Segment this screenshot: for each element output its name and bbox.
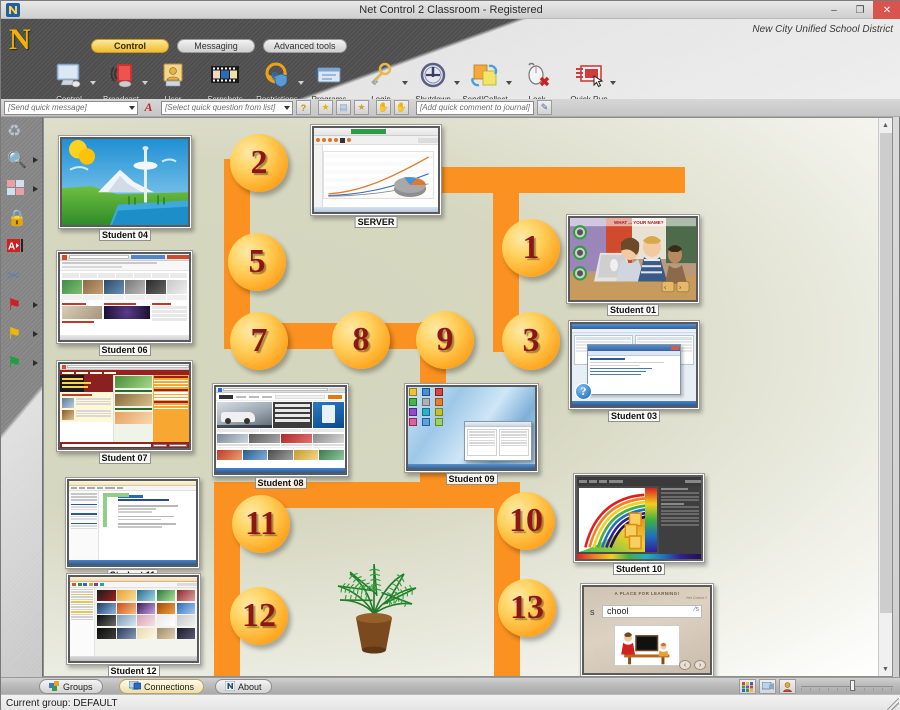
tool-control[interactable]: Control xyxy=(43,59,95,99)
status-bar: Current group: DEFAULT xyxy=(1,694,900,710)
screen-preview: WHAT ... YOUR NAME? xyxy=(566,214,700,304)
screen-preview: A PLACE FOR LEARNING! Net Control 2 s ch… xyxy=(580,583,714,676)
tab-advanced-tools[interactable]: Advanced tools xyxy=(263,39,347,53)
details-view-button[interactable] xyxy=(759,679,776,694)
zoom-track xyxy=(801,686,893,687)
star-icon: ★ xyxy=(357,102,365,113)
screen-preview xyxy=(56,360,193,452)
tool-restrictions[interactable]: e Restrictions xyxy=(251,59,303,99)
users-view-button[interactable] xyxy=(779,679,796,694)
journal-comment-input[interactable]: [Add quick comment to journal] xyxy=(416,101,534,115)
question-mark-icon: ? xyxy=(301,103,307,113)
quick-message-input[interactable]: [Send quick message] xyxy=(4,101,138,115)
sidebar-item-refresh[interactable]: ♻ xyxy=(1,117,43,146)
computer-student-03[interactable]: ? Student 03 xyxy=(568,320,700,410)
user-card-icon xyxy=(147,59,199,93)
sidebar-item-magnifier[interactable]: 🔍 xyxy=(1,146,43,175)
computer-student-11[interactable]: Student 11 xyxy=(65,477,200,569)
potted-plant-icon xyxy=(326,542,422,654)
tool-quick-run[interactable]: Quick Run xyxy=(563,59,615,99)
chevron-down-icon[interactable] xyxy=(129,106,135,110)
bottom-tab-label: Connections xyxy=(144,682,194,692)
sidebar-item-text-message[interactable]: A xyxy=(1,233,43,262)
sidebar-item-yellow-flag[interactable]: ⚑ xyxy=(1,320,43,349)
svg-text:A: A xyxy=(8,242,15,253)
font-icon: A xyxy=(144,100,152,115)
tab-messaging[interactable]: Messaging xyxy=(177,39,255,53)
quick-question-help-button[interactable]: ? xyxy=(296,100,311,115)
text-message-icon: A xyxy=(7,239,27,256)
seat-11[interactable]: 11 xyxy=(232,495,290,553)
bottom-tab-connections[interactable]: Connections xyxy=(119,679,204,694)
bottom-tab-label: Groups xyxy=(63,682,93,692)
ribbon-toolbar: N New City Unified School District Contr… xyxy=(1,19,900,99)
seat-1[interactable]: 1 xyxy=(502,219,560,277)
tiles-icon xyxy=(7,180,24,199)
seat-10[interactable]: 10 xyxy=(497,492,555,550)
bottom-tab-label: About xyxy=(238,682,262,692)
yellow-flag-icon: ⚑ xyxy=(7,327,21,343)
ice-desktop-icon xyxy=(408,387,535,469)
seat-7[interactable]: 7 xyxy=(230,312,288,370)
journal-add-button[interactable]: ✎ xyxy=(537,100,552,115)
chevron-down-icon[interactable] xyxy=(284,106,290,110)
tab-control[interactable]: Control xyxy=(91,39,169,53)
refresh-icon: ♻ xyxy=(7,124,21,140)
computer-caption: Student 10 xyxy=(613,563,665,575)
computer-caption: Student 03 xyxy=(608,410,660,422)
screen-preview: ? xyxy=(568,320,700,410)
chevron-right-icon[interactable] xyxy=(33,186,38,192)
seat-9[interactable]: 9 xyxy=(416,311,474,369)
zoom-slider[interactable] xyxy=(801,684,893,689)
classroom-layout[interactable]: 2 5 7 8 9 1 3 11 12 10 13 xyxy=(44,118,879,676)
thumbnails-view-button[interactable] xyxy=(739,679,756,694)
mouse-lock-icon xyxy=(511,59,563,93)
tool-send-collect[interactable]: Send/Collect xyxy=(459,59,511,99)
ribbon-logo-icon: N xyxy=(9,23,47,63)
spreadsheet-chart-icon xyxy=(314,128,438,212)
minimize-button[interactable]: – xyxy=(821,1,847,19)
classroom-canvas-frame: 2 5 7 8 9 1 3 11 12 10 13 xyxy=(43,117,893,677)
maximize-button[interactable]: ❐ xyxy=(847,1,873,19)
magnifier-icon: 🔍 xyxy=(7,153,27,169)
computer-student-04[interactable]: Student 04 xyxy=(58,135,192,229)
classroom-photo-icon: WHAT ... YOUR NAME? xyxy=(570,218,696,300)
colorful-news-icon xyxy=(60,364,189,448)
screen-preview xyxy=(66,573,201,665)
red-flag-icon: ⚑ xyxy=(7,298,21,314)
computer-student-07[interactable]: Student 07 xyxy=(56,360,193,452)
computer-student-12[interactable]: Student 12 xyxy=(66,573,201,665)
tool-scrnshots[interactable]: Scrnshots xyxy=(199,59,251,99)
screen-preview xyxy=(65,477,200,569)
quick-run-icon xyxy=(563,59,615,93)
poll-button[interactable]: ▤ xyxy=(336,100,351,115)
screen-preview xyxy=(404,383,539,473)
window-icon xyxy=(303,59,355,93)
chevron-down-icon[interactable] xyxy=(610,81,616,85)
journal-placeholder: [Add quick comment to journal] xyxy=(420,103,530,112)
shuffle-icon: ✂ xyxy=(7,269,20,285)
connections-icon xyxy=(129,681,141,693)
presentation-outline-icon xyxy=(69,481,196,565)
tool-lock[interactable]: Lock xyxy=(511,59,563,99)
seat-5[interactable]: 5 xyxy=(228,233,286,291)
tool-user[interactable]: User xyxy=(147,59,199,99)
computer-caption: Student 07 xyxy=(98,452,150,464)
computer-caption: Student 08 xyxy=(254,477,306,489)
computer-caption: Student 04 xyxy=(99,229,151,241)
desk-segment xyxy=(420,167,685,193)
computer-student-08[interactable]: Student 08 xyxy=(212,383,349,477)
title-bar: Net Control 2 Classroom - Registered – ❐… xyxy=(1,1,900,19)
chevron-right-icon[interactable] xyxy=(33,360,38,366)
speech-bubble-icon: ▤ xyxy=(339,102,348,113)
close-button[interactable]: ✕ xyxy=(873,1,900,19)
photo-gallery-icon xyxy=(70,577,197,661)
computer-caption: Student 01 xyxy=(607,304,659,316)
computer-student-10[interactable]: Student 10 xyxy=(573,473,705,563)
broadcast-icon xyxy=(95,59,147,93)
application-window: Net Control 2 Classroom - Registered – ❐… xyxy=(0,0,900,710)
vector-editor-icon xyxy=(577,477,701,559)
hand-icon: ✋ xyxy=(378,102,389,113)
resize-grip-icon[interactable] xyxy=(887,698,899,710)
tool-programs[interactable]: Programs xyxy=(303,59,355,99)
computer-student-09[interactable]: Student 09 xyxy=(404,383,539,473)
district-label: New City Unified School District xyxy=(752,24,893,35)
computer-caption: Student 06 xyxy=(98,344,150,356)
sidebar-item-red-flag[interactable]: ⚑ xyxy=(1,291,43,320)
seat-3[interactable]: 3 xyxy=(502,312,560,370)
scroll-up-button[interactable]: ▲ xyxy=(879,118,892,132)
computer-learning-slide[interactable]: A PLACE FOR LEARNING! Net Control 2 s ch… xyxy=(580,583,714,676)
computer-caption: Student 09 xyxy=(445,473,497,485)
reward-star-alt-button[interactable]: ★ xyxy=(354,100,369,115)
computer-student-01[interactable]: WHAT ... YOUR NAME? xyxy=(566,214,700,304)
seat-13[interactable]: 13 xyxy=(498,579,556,637)
sidebar-item-shuffle[interactable]: ✂ xyxy=(1,262,43,291)
quick-question-placeholder: [Select quick question from list] xyxy=(165,103,275,112)
scroll-down-button[interactable]: ▼ xyxy=(879,662,892,676)
keys-icon xyxy=(355,59,407,93)
screen-preview xyxy=(56,250,193,344)
screen-preview xyxy=(310,124,442,216)
chevron-right-icon[interactable] xyxy=(33,302,38,308)
computer-caption: Student 12 xyxy=(107,665,159,676)
bottom-tab-bar: Groups Connections About xyxy=(1,677,900,694)
lower-hand-button[interactable]: ✋ xyxy=(394,100,409,115)
screen-preview xyxy=(58,135,192,229)
hand-icon: ✋ xyxy=(396,102,407,113)
sync-files-icon xyxy=(459,59,511,93)
star-icon: ★ xyxy=(321,102,329,113)
monitor-icon xyxy=(43,59,95,93)
admin-dialog-icon: ? xyxy=(572,324,696,406)
reward-star-button[interactable]: ★ xyxy=(318,100,333,115)
quick-message-font-button[interactable]: A xyxy=(141,100,156,115)
zoom-slider-handle[interactable] xyxy=(850,680,855,691)
lock-icon: 🔒 xyxy=(7,211,27,227)
tool-broadcast[interactable]: Broadcast xyxy=(95,59,147,99)
canvas-vertical-scrollbar[interactable]: ▲ ▼ xyxy=(878,118,892,676)
screen-preview xyxy=(212,383,349,477)
window-title: Net Control 2 Classroom - Registered xyxy=(1,1,900,19)
chevron-right-icon[interactable] xyxy=(33,157,38,163)
sidebar-item-tiles[interactable] xyxy=(1,175,43,204)
chevron-right-icon[interactable] xyxy=(33,331,38,337)
scroll-thumb[interactable] xyxy=(880,133,892,613)
seat-12[interactable]: 12 xyxy=(230,587,288,645)
sidebar-item-lock[interactable]: 🔒 xyxy=(1,204,43,233)
mode-tab-group: Control Messaging Advanced tools xyxy=(91,39,347,53)
seat-2[interactable]: 2 xyxy=(230,134,288,192)
ribbon-tool-group: Control Broadcast xyxy=(43,59,615,99)
computer-caption: SERVER xyxy=(355,216,398,228)
wallpaper-landscape-icon xyxy=(62,139,188,225)
about-icon xyxy=(225,681,235,693)
quick-action-bar: [Send quick message] A [Select quick que… xyxy=(1,99,900,117)
news-website-icon xyxy=(60,254,189,340)
svg-text:WHAT ... YOUR NAME?: WHAT ... YOUR NAME? xyxy=(614,220,664,225)
learning-slide-icon: A PLACE FOR LEARNING! Net Control 2 s ch… xyxy=(584,587,710,673)
status-text: Current group: DEFAULT xyxy=(6,698,118,709)
computer-server[interactable]: SERVER xyxy=(310,124,442,216)
sidebar-item-green-flag[interactable]: ⚑ xyxy=(1,349,43,378)
tool-shutdown[interactable]: Shutdown xyxy=(407,59,459,99)
filmstrip-icon xyxy=(199,59,251,93)
groups-icon xyxy=(49,681,60,693)
car-website-icon xyxy=(216,387,345,473)
bottom-tab-about[interactable]: About xyxy=(215,679,272,694)
screen-preview xyxy=(573,473,705,563)
raise-hand-button[interactable]: ✋ xyxy=(376,100,391,115)
quick-message-placeholder: [Send quick message] xyxy=(8,103,87,112)
green-flag-icon: ⚑ xyxy=(7,356,21,372)
left-tool-sidebar: ♻ 🔍 🔒 A xyxy=(1,117,43,677)
seat-8[interactable]: 8 xyxy=(332,311,390,369)
browser-shield-icon: e xyxy=(251,59,303,93)
bottom-tab-groups[interactable]: Groups xyxy=(39,679,103,694)
view-mode-buttons xyxy=(739,679,796,694)
pen-icon: ✎ xyxy=(541,102,549,113)
computer-student-06[interactable]: Student 06 xyxy=(56,250,193,344)
power-icon xyxy=(407,59,459,93)
quick-question-input[interactable]: [Select quick question from list] xyxy=(161,101,293,115)
tool-login[interactable]: Login xyxy=(355,59,407,99)
